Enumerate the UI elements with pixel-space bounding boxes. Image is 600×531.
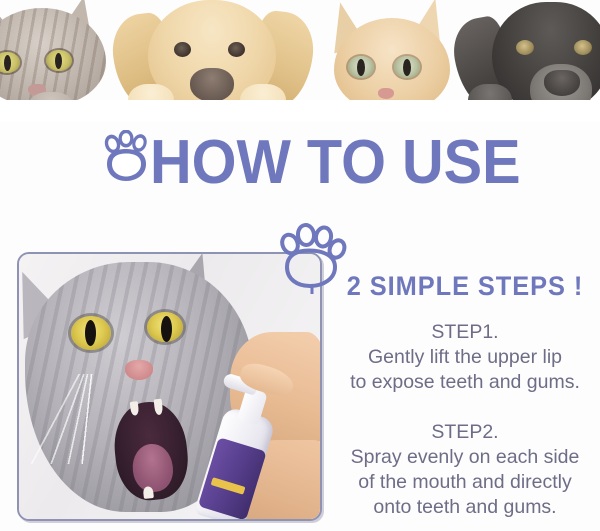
step-2-block: STEP2. Spray evenly on each side of the …	[330, 420, 600, 520]
orange-cat-pupil-left	[357, 59, 365, 76]
black-dog-eye-right	[574, 40, 592, 55]
tabby-cat-pupil-right	[55, 53, 62, 69]
step-2-line-1: Spray evenly on each side	[330, 445, 600, 470]
step-2-label: STEP2.	[330, 420, 600, 445]
cat-tooth	[154, 399, 164, 416]
golden-retriever-eye-right	[228, 42, 245, 57]
cat-pupil-left	[85, 320, 96, 346]
cat-tooth	[130, 401, 139, 416]
animal-header-strip	[0, 0, 600, 122]
photo-inner	[19, 254, 320, 519]
how-to-use-poster: HOW TO USE	[0, 0, 600, 531]
cat-pupil-right	[161, 316, 172, 342]
tabby-cat-eye-right	[46, 50, 72, 71]
step-2-line-3: onto teeth and gums.	[330, 495, 600, 520]
step-1-line-1: Gently lift the upper lip	[330, 345, 600, 370]
golden-retriever-nose	[190, 68, 234, 102]
steps-heading: 2 SIMPLE STEPS !	[338, 270, 592, 302]
cat-eye-left	[71, 316, 111, 350]
page-title: HOW TO USE	[150, 128, 521, 198]
tabby-cat-pupil-left	[4, 55, 11, 71]
cat-tongue	[130, 442, 175, 494]
cat-tooth	[143, 486, 154, 499]
paw-print-icon	[97, 130, 155, 186]
orange-cat-nose	[378, 88, 394, 99]
black-dog-eye-left	[516, 40, 534, 55]
orange-cat-pupil-right	[403, 59, 411, 76]
orange-cat-eye-left	[348, 56, 374, 78]
step-1-label: STEP1.	[330, 320, 600, 345]
step-2-line-2: of the mouth and directly	[330, 470, 600, 495]
step-1-line-2: to expose teeth and gums.	[330, 370, 600, 395]
orange-cat-eye-right	[394, 56, 420, 78]
step-1-block: STEP1. Gently lift the upper lip to expo…	[330, 320, 600, 395]
cat-nose	[125, 360, 153, 380]
strip-fade	[0, 106, 600, 122]
instruction-photo	[17, 252, 322, 521]
title-row: HOW TO USE	[0, 130, 600, 205]
golden-retriever-eye-left	[174, 42, 191, 57]
black-dog-nose	[544, 70, 580, 96]
cat-eye-right	[147, 312, 183, 342]
